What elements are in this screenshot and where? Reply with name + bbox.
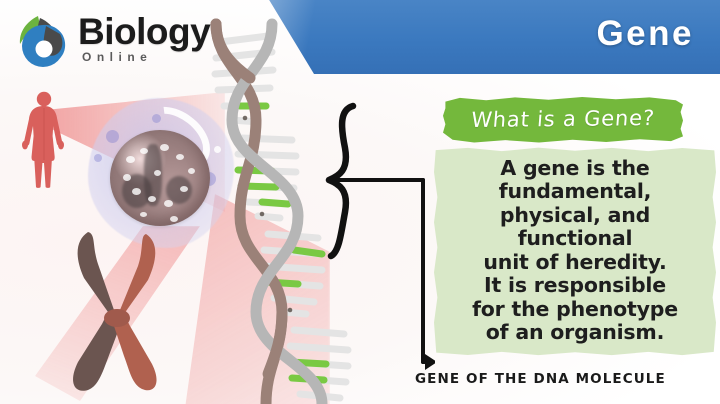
- brand-logo[interactable]: Biology Online: [16, 10, 246, 76]
- biology-online-droplet-leaf-logo-icon: [16, 14, 72, 70]
- dna-gene-caption: GENE OF THE DNA MOLECULE: [415, 371, 666, 387]
- brand-subtitle: Online: [78, 50, 210, 64]
- question-banner-text: What is a Gene?: [441, 95, 685, 145]
- cell-nucleus: [110, 130, 210, 226]
- organelle: [106, 130, 119, 143]
- definition-box: A gene is the fundamental, physical, and…: [434, 147, 716, 356]
- organelle: [152, 114, 161, 123]
- infographic-canvas: Gene Biology Online What is a Gene? A ge…: [0, 0, 720, 404]
- chromosome-x-icon: [58, 226, 178, 394]
- arrow-right-icon: [425, 354, 435, 370]
- gene-callout-connector: [305, 100, 435, 388]
- human-body-silhouette-icon: [18, 90, 70, 188]
- question-banner: What is a Gene?: [443, 96, 683, 143]
- definition-text: A gene is the fundamental, physical, and…: [434, 147, 716, 356]
- brand-text: Biology Online: [78, 12, 210, 64]
- brand-name: Biology: [78, 12, 210, 52]
- page-title: Gene: [596, 14, 694, 54]
- organelle: [94, 154, 102, 162]
